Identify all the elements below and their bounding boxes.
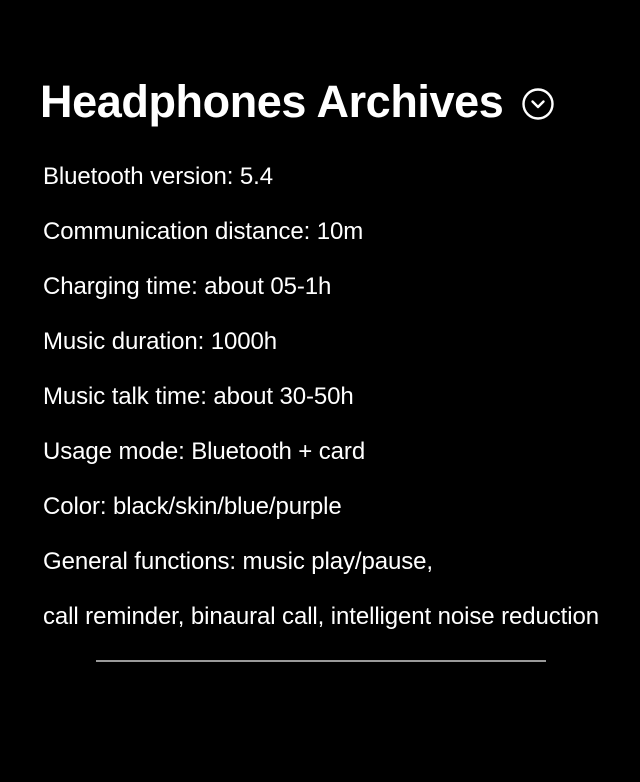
chevron-down-circle-icon[interactable]: [521, 87, 555, 121]
spec-line: Usage mode: Bluetooth + card: [43, 439, 633, 465]
spec-list: Bluetooth version: 5.4 Communication dis…: [43, 164, 633, 630]
header[interactable]: Headphones Archives: [40, 78, 555, 125]
spec-line: Bluetooth version: 5.4: [43, 164, 633, 190]
spec-line: General functions: music play/pause,: [43, 549, 633, 575]
spec-line: Music talk time: about 30-50h: [43, 384, 633, 410]
product-spec-panel: Headphones Archives Bluetooth version: 5…: [0, 0, 640, 782]
spec-line: call reminder, binaural call, intelligen…: [43, 604, 633, 630]
spec-line: Color: black/skin/blue/purple: [43, 494, 633, 520]
spec-line: Charging time: about 05-1h: [43, 274, 633, 300]
spec-line: Music duration: 1000h: [43, 329, 633, 355]
page-title: Headphones Archives: [40, 78, 503, 125]
section-divider: [96, 660, 546, 662]
spec-line: Communication distance: 10m: [43, 219, 633, 245]
